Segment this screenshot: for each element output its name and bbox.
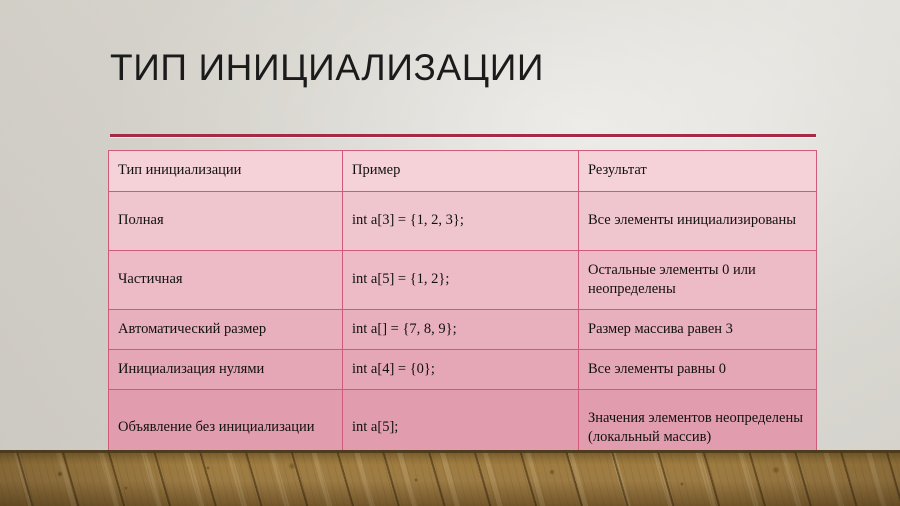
column-header-example: Пример bbox=[343, 151, 579, 192]
cell-example: int a[] = {7, 8, 9}; bbox=[343, 310, 579, 350]
floor-edge-line bbox=[0, 450, 900, 453]
cell-type: Частичная bbox=[109, 251, 343, 310]
cell-example: int a[4] = {0}; bbox=[343, 350, 579, 390]
title-divider bbox=[110, 134, 816, 137]
cell-type: Полная bbox=[109, 192, 343, 251]
slide-canvas: ТИП ИНИЦИАЛИЗАЦИИ Тип инициализации Прим… bbox=[0, 0, 900, 506]
cell-result: Все элементы инициализированы bbox=[579, 192, 817, 251]
table-row: Полная int a[3] = {1, 2, 3}; Все элемент… bbox=[109, 192, 817, 251]
cell-result: Остальные элементы 0 или неопределены bbox=[579, 251, 817, 310]
cell-result: Все элементы равны 0 bbox=[579, 350, 817, 390]
page-title: ТИП ИНИЦИАЛИЗАЦИИ bbox=[110, 48, 810, 88]
initialization-table: Тип инициализации Пример Результат Полна… bbox=[108, 150, 817, 467]
cell-result: Размер массива равен 3 bbox=[579, 310, 817, 350]
table-row: Частичная int a[5] = {1, 2}; Остальные э… bbox=[109, 251, 817, 310]
wooden-floor-decoration bbox=[0, 450, 900, 506]
cell-example: int a[5] = {1, 2}; bbox=[343, 251, 579, 310]
table-header-row: Тип инициализации Пример Результат bbox=[109, 151, 817, 192]
column-header-result: Результат bbox=[579, 151, 817, 192]
cell-type: Инициализация нулями bbox=[109, 350, 343, 390]
table-row: Автоматический размер int a[] = {7, 8, 9… bbox=[109, 310, 817, 350]
cell-example: int a[3] = {1, 2, 3}; bbox=[343, 192, 579, 251]
cell-type: Автоматический размер bbox=[109, 310, 343, 350]
floor-shading bbox=[0, 450, 900, 506]
table-row: Инициализация нулями int a[4] = {0}; Все… bbox=[109, 350, 817, 390]
initialization-table-container: Тип инициализации Пример Результат Полна… bbox=[108, 150, 816, 467]
column-header-type: Тип инициализации bbox=[109, 151, 343, 192]
